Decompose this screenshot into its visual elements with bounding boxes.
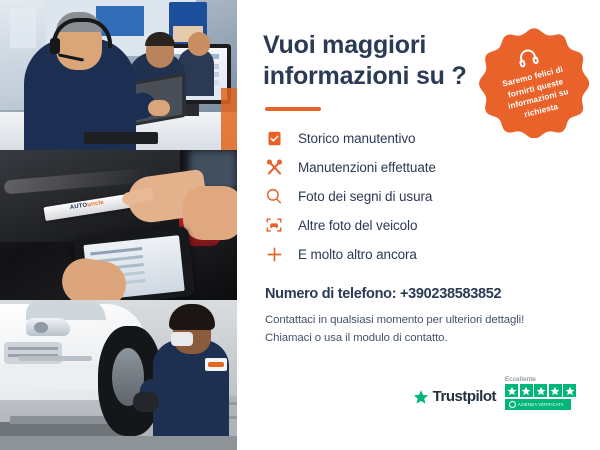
keyboard <box>84 132 158 144</box>
list-item: Altre foto del veicolo <box>263 211 578 239</box>
work-glove <box>133 392 159 412</box>
orange-shelf <box>221 88 237 150</box>
paint-thickness-gauge-photo: AUTOuncle <box>0 150 237 300</box>
agent-hand <box>148 100 170 116</box>
strip-logo: AUTOuncle <box>69 200 104 211</box>
wrench-screwdriver-icon <box>263 156 285 178</box>
windshield <box>26 300 106 320</box>
feature-label: Altre foto del veicolo <box>298 218 417 233</box>
contact-line-1: Contattaci in qualsiasi momento per ulte… <box>265 311 578 329</box>
headset-icon <box>515 45 542 72</box>
plus-icon <box>263 243 285 265</box>
content-panel: Vuoi maggioriinformazioni su ? Storico m… <box>237 0 600 450</box>
list-item: E molto altro ancora <box>263 240 578 268</box>
verified-badge: AZIENDA VERIFICATA <box>505 399 571 410</box>
promo-banner: AUTOuncle <box>0 0 600 450</box>
feature-list: Storico manutentivo Manutenzioni effettu… <box>263 124 578 268</box>
car-scan-icon <box>263 214 285 236</box>
star-filled-icon <box>563 384 576 397</box>
uniform-logo-patch <box>205 358 227 371</box>
star-filled-icon <box>534 384 547 397</box>
list-item: Manutenzioni effettuate <box>263 153 578 181</box>
feature-label: Foto dei segni di usura <box>298 189 432 204</box>
star-filled-icon <box>549 384 562 397</box>
rating-label: Eccellente <box>505 376 536 383</box>
call-center-agents-photo <box>0 0 237 150</box>
face-mask <box>171 332 193 346</box>
verified-label: AZIENDA VERIFICATA <box>518 402 564 407</box>
technician-arm <box>183 186 237 240</box>
page-title: Vuoi maggioriinformazioni su ? <box>263 30 478 91</box>
list-item: Foto dei segni di usura <box>263 182 578 210</box>
headset-earcup <box>50 38 60 54</box>
star-rating <box>505 384 576 397</box>
feature-label: Storico manutentivo <box>298 131 415 146</box>
contact-line-2: Chiamaci o usa il modulo di contatto. <box>265 329 578 347</box>
trustpilot-widget[interactable]: Trustpilot Eccellente AZIENDA VERIFICATA <box>413 376 576 411</box>
star-filled-icon <box>505 384 518 397</box>
contact-instructions: Contattaci in qualsiasi momento per ulte… <box>265 311 578 348</box>
mechanic-wheel-inspection-photo <box>0 300 237 450</box>
trustpilot-wordmark: Trustpilot <box>433 388 496 405</box>
magnifier-icon <box>263 185 285 207</box>
check-circle-icon <box>509 401 516 408</box>
mechanic-hair <box>169 304 215 330</box>
title-divider <box>265 107 321 111</box>
trustpilot-star-icon <box>413 389 429 405</box>
front-bumper <box>0 364 112 390</box>
bumper-trim <box>18 356 92 361</box>
trustpilot-logo: Trustpilot <box>413 388 496 410</box>
phone-number[interactable]: Numero di telefono: +390238583852 <box>265 286 578 302</box>
star-filled-icon <box>520 384 533 397</box>
photo-column: AUTOuncle <box>0 0 237 450</box>
callout-badge: Saremo felici di fornirti queste informa… <box>478 26 590 138</box>
feature-label: Manutenzioni effettuate <box>298 160 436 175</box>
monitor-stand <box>185 104 199 116</box>
background-worker-2-head <box>188 32 210 56</box>
clipboard-check-icon <box>263 127 285 149</box>
feature-label: E molto altro ancora <box>298 247 417 262</box>
workshop-floor <box>0 436 237 450</box>
trustpilot-rating: Eccellente AZIENDA VERIFICATA <box>505 376 576 411</box>
headlight <box>26 318 70 336</box>
